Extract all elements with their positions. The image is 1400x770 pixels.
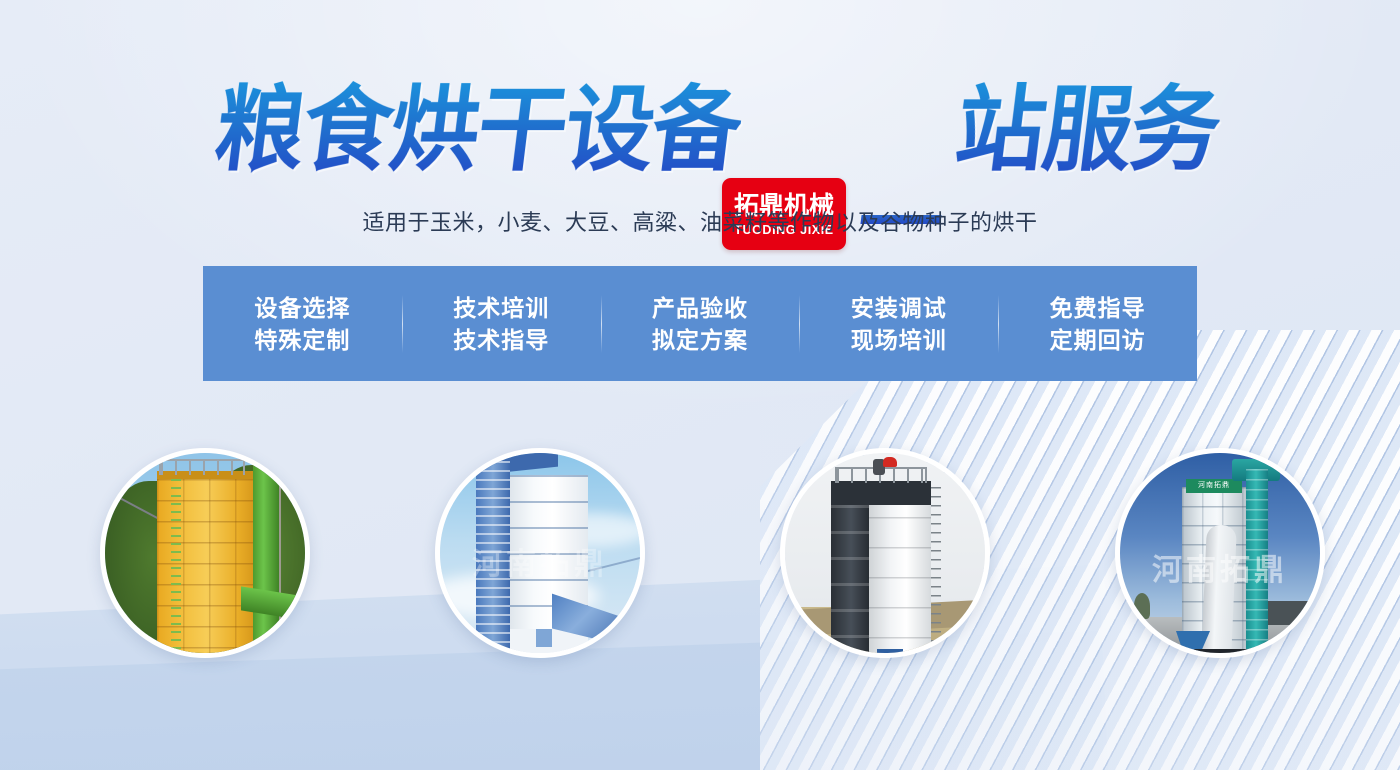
- photo-1-elevator-leg: [253, 455, 279, 658]
- photo-3-control-box: [877, 649, 903, 658]
- subtitle-text: 适用于玉米，小麦、大豆、高粱、油菜籽等作物以及谷物种子的烘干: [0, 206, 1400, 240]
- photo-2-access-door: [536, 629, 552, 647]
- photo-3-tower-top: [831, 481, 931, 505]
- product-photo-2[interactable]: 河南拓鼎: [435, 448, 645, 658]
- feature-column-1[interactable]: 设备选择 特殊定制: [203, 266, 402, 381]
- feature-3-line-1: 产品验收: [652, 292, 748, 324]
- photo-4-tree: [1134, 593, 1150, 619]
- feature-2-line-2: 技术指导: [453, 324, 549, 356]
- feature-5-line-2: 定期回访: [1050, 324, 1146, 356]
- feature-3-line-2: 拟定方案: [652, 324, 748, 356]
- headline-row: 粮食烘干设备 拓鼎机械 TUODING JIXIE 站服务: [0, 78, 1400, 190]
- photo-2-scene: 河南拓鼎: [440, 453, 640, 653]
- feature-column-3[interactable]: 产品验收 拟定方案: [601, 266, 800, 381]
- headline-right-group: 站服务: [945, 78, 1224, 182]
- feature-1-line-2: 特殊定制: [254, 324, 350, 356]
- photo-3-dark-module-stack: [831, 505, 871, 658]
- photo-3-red-equipment: [883, 457, 897, 467]
- photo-1-roof-railing: [159, 459, 245, 475]
- feature-column-5[interactable]: 免费指导 定期回访: [998, 266, 1197, 381]
- feature-column-2[interactable]: 技术培训 技术指导: [402, 266, 601, 381]
- photo-3-ladder: [931, 487, 941, 658]
- photo-1-ladder: [171, 479, 181, 658]
- feature-1-line-1: 设备选择: [254, 292, 350, 324]
- product-photo-4[interactable]: 河南拓鼎 河南拓鼎: [1115, 448, 1325, 658]
- photo-2-watermark: 河南拓鼎: [440, 539, 640, 583]
- photo-3-dryer-tower: [869, 487, 931, 658]
- photo-4-brand-sign-text: 河南拓鼎: [1186, 479, 1242, 493]
- photo-1-scene: [105, 453, 305, 653]
- service-feature-bar: 设备选择 特殊定制 技术培训 技术指导 产品验收 拟定方案 安装调试 现场培训 …: [203, 266, 1197, 381]
- headline-part-2: 站服务: [950, 78, 1225, 182]
- photo-4-brand-sign: 河南拓鼎: [1186, 479, 1242, 493]
- feature-4-line-2: 现场培训: [851, 324, 947, 356]
- photo-3-scene: [785, 453, 985, 653]
- feature-4-line-1: 安装调试: [851, 292, 947, 324]
- headline-part-1: 粮食烘干设备: [210, 78, 747, 182]
- feature-5-line-1: 免费指导: [1050, 292, 1146, 324]
- feature-2-line-1: 技术培训: [453, 292, 549, 324]
- headline-left-group: 粮食烘干设备: [205, 78, 751, 182]
- feature-column-4[interactable]: 安装调试 现场培训: [799, 266, 998, 381]
- photo-4-watermark: 河南拓鼎: [1120, 545, 1320, 589]
- photo-4-scene: 河南拓鼎 河南拓鼎: [1120, 453, 1320, 653]
- product-photo-3[interactable]: [780, 448, 990, 658]
- product-photo-1[interactable]: [100, 448, 310, 658]
